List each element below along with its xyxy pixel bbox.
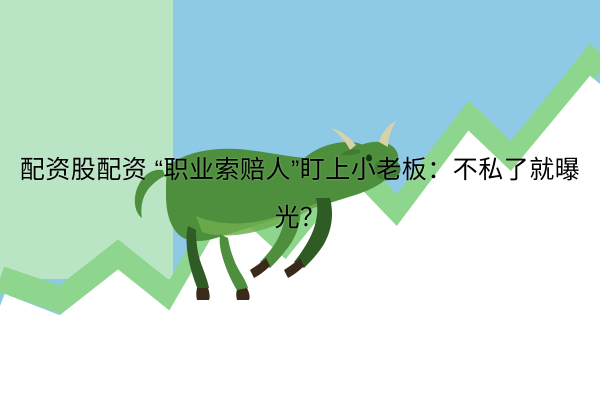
bull-hind-hoof-2 [236, 288, 249, 300]
stock-news-banner: 配资股配资 “职业索赔人”盯上小老板：不私了就曝光？ [0, 0, 600, 400]
bull-hind-hoof [196, 288, 209, 300]
headline-text: 配资股配资 “职业索赔人”盯上小老板：不私了就曝光？ [0, 146, 600, 242]
bull-horn-right [379, 121, 396, 147]
